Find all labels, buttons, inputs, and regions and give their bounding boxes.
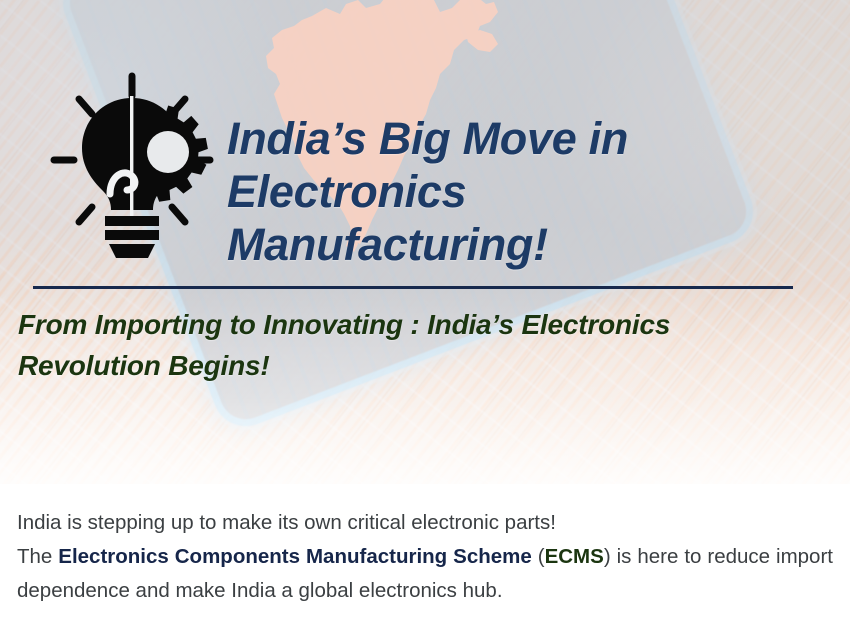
headline-line-1: India’s Big Move in bbox=[227, 112, 827, 165]
body-line-2: The Electronics Components Manufacturing… bbox=[17, 540, 833, 608]
article-graphic-page: India’s Big Move in Electronics Manufact… bbox=[0, 0, 850, 642]
page-subtitle: From Importing to Innovating : India’s E… bbox=[18, 304, 838, 386]
scheme-acronym: ECMS bbox=[545, 545, 604, 568]
subtitle-line-1: From Importing to Innovating : India’s E… bbox=[18, 304, 838, 345]
body-paragraph: India is stepping up to make its own cri… bbox=[17, 506, 833, 608]
body-prefix: The bbox=[17, 545, 58, 568]
hero-banner: India’s Big Move in Electronics Manufact… bbox=[0, 0, 850, 484]
headline-line-2: Electronics bbox=[227, 165, 827, 218]
body-section: India is stepping up to make its own cri… bbox=[0, 484, 850, 642]
paren-open: ( bbox=[532, 545, 545, 568]
lightbulb-gear-icon bbox=[48, 72, 216, 264]
scheme-name: Electronics Components Manufacturing Sch… bbox=[58, 545, 532, 568]
page-title: India’s Big Move in Electronics Manufact… bbox=[227, 112, 827, 271]
headline-line-3: Manufacturing! bbox=[227, 218, 827, 271]
title-divider-rule bbox=[33, 286, 793, 289]
body-line-1: India is stepping up to make its own cri… bbox=[17, 506, 833, 540]
subtitle-line-2: Revolution Begins! bbox=[18, 345, 838, 386]
